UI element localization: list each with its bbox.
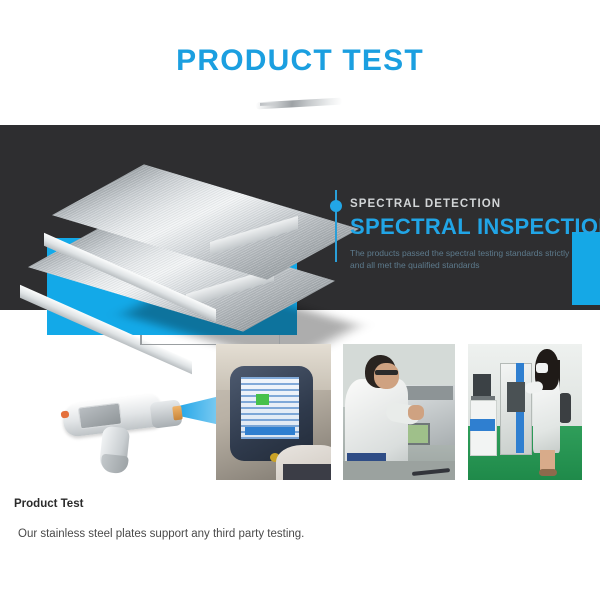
- photo-thumbnail: [343, 344, 455, 480]
- photo3-shoe: [539, 469, 557, 476]
- photo1-analyzer-screen: [241, 377, 299, 440]
- page-title: PRODUCT TEST: [0, 44, 600, 78]
- photo3-desk-band: [470, 419, 495, 431]
- caption-body: Our stainless steel plates support any t…: [18, 528, 304, 540]
- photo3-mask: [536, 363, 547, 373]
- photo1-screen-highlight: [256, 394, 269, 405]
- steel-plate-stack-image: [38, 155, 318, 340]
- photo1-arm: [283, 464, 331, 480]
- photo3-bag: [559, 393, 570, 423]
- photo-thumbnail: [216, 344, 331, 480]
- metal-sliver-icon: [256, 98, 342, 110]
- banner-kicker: SPECTRAL DETECTION: [350, 198, 580, 210]
- photo2-glasses: [375, 370, 397, 375]
- photo1-screen-bar: [245, 427, 296, 435]
- photo3-spectrometer-panel: [507, 382, 525, 412]
- caption-title: Product Test: [14, 498, 83, 510]
- banner-body-text: The products passed the spectral testing…: [350, 247, 580, 271]
- photo2-hand: [408, 405, 424, 420]
- banner-text-block: SPECTRAL DETECTION SPECTRAL INSPECTION T…: [350, 198, 580, 271]
- banner-headline: SPECTRAL INSPECTION: [350, 214, 580, 240]
- photo-row: [0, 344, 600, 480]
- photo-thumbnail: [468, 344, 582, 480]
- product-test-banner: PRODUCT TEST SPECTRAL DETECTION SPECTRAL…: [0, 0, 600, 600]
- title-section: PRODUCT TEST: [0, 0, 600, 125]
- photo3-monitor: [473, 374, 491, 397]
- photo2-face: [374, 363, 399, 389]
- bullet-dot-icon: [330, 200, 342, 212]
